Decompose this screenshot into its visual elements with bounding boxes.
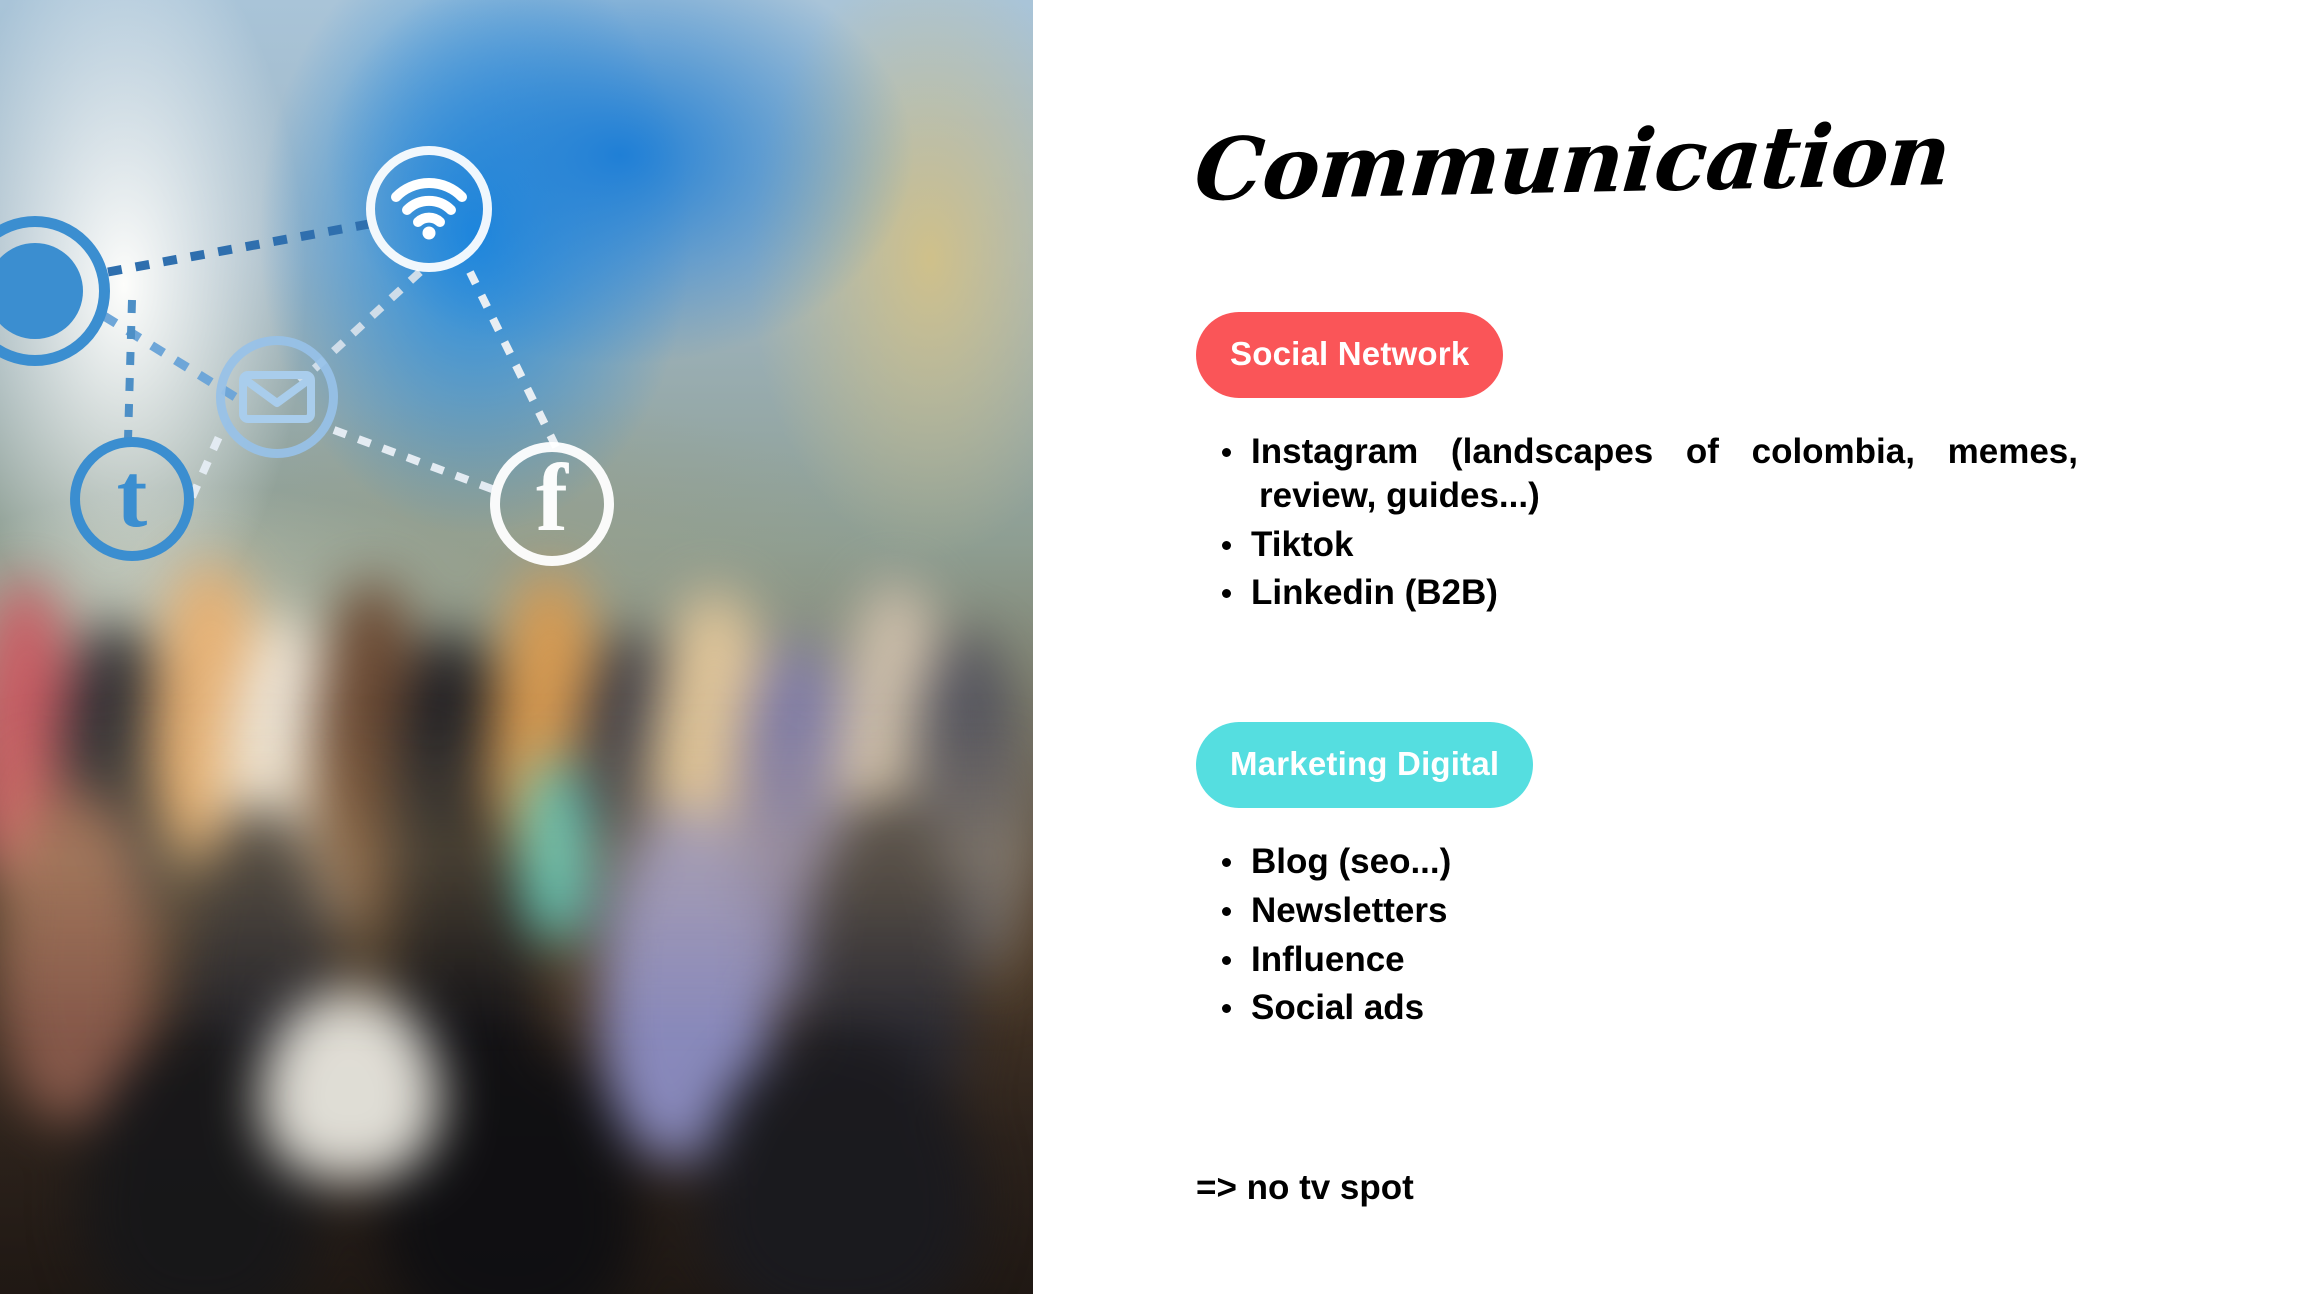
list-item: Blog (seo...)	[1208, 840, 2078, 884]
tumblr-icon: t	[70, 437, 194, 561]
wifi-icon	[366, 146, 492, 272]
list-item-label: Linkedin (B2B)	[1251, 573, 1498, 612]
list-item-label: Influence	[1251, 940, 1405, 979]
badge-marketing-digital: Marketing Digital	[1196, 722, 1533, 808]
content-panel: Communication Social Network Instagram (…	[1033, 0, 2300, 1294]
social-network-list: Instagram (landscapes of colombia, memes…	[1208, 430, 2078, 620]
page-title: Communication	[1191, 104, 1954, 221]
list-item-label: Tiktok	[1251, 525, 1353, 564]
list-item-line-1: Instagram (landscapes of colombia, memes…	[1251, 430, 2078, 474]
list-item-label: Newsletters	[1251, 891, 1447, 930]
list-item-line-2: review, guides...)	[1251, 474, 2078, 518]
list-item-label: Blog (seo...)	[1251, 842, 1451, 881]
list-item: Social ads	[1208, 986, 2078, 1030]
envelope-glyph	[239, 369, 315, 425]
badge-social-network: Social Network	[1196, 312, 1503, 398]
list-item-label: Social ads	[1251, 988, 1424, 1027]
wifi-glyph	[390, 177, 468, 241]
list-item: Instagram (landscapes of colombia, memes…	[1208, 430, 2078, 518]
list-item: Linkedin (B2B)	[1208, 571, 2078, 615]
tumblr-glyph: t	[117, 449, 148, 541]
list-item: Influence	[1208, 938, 2078, 982]
hero-image: t f	[0, 0, 1033, 1294]
facebook-glyph: f	[536, 450, 568, 546]
network-lines	[0, 0, 1033, 1294]
list-item: Tiktok	[1208, 523, 2078, 567]
marketing-digital-list: Blog (seo...) Newsletters Influence Soci…	[1208, 840, 2078, 1035]
footnote-no-tv-spot: => no tv spot	[1196, 1168, 1414, 1208]
mail-envelope-icon	[216, 336, 338, 458]
list-item: Newsletters	[1208, 889, 2078, 933]
slide-root: t f Communication Social Network Instagr…	[0, 0, 2300, 1294]
icon-network-overlay: t f	[0, 0, 1033, 1294]
facebook-icon: f	[490, 442, 614, 566]
